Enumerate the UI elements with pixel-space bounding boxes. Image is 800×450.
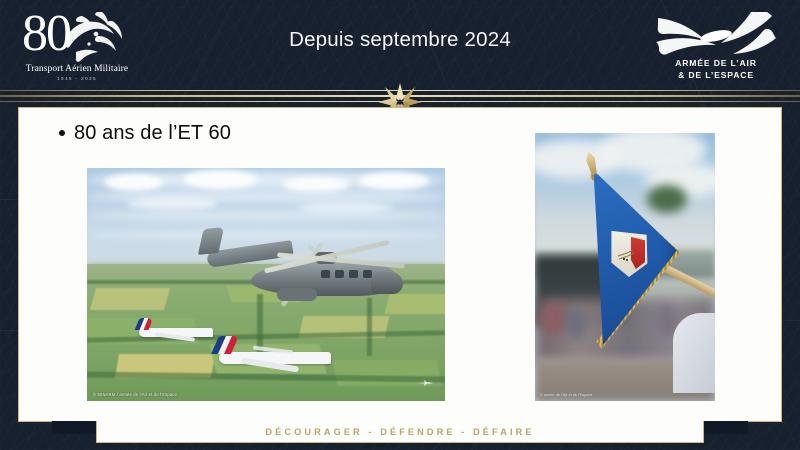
bullet-text: 80 ans de l’ET 60: [74, 120, 231, 146]
photo-cloud: [297, 202, 393, 213]
content-panel: 80 ans de l’ET 60: [18, 107, 782, 422]
motto-bar: DÉCOURAGER - DÉFENDRE - DÉFAIRE: [96, 421, 704, 443]
photo-credit: © MINARM / armée de l’Air et de l’Espace: [93, 392, 177, 397]
logo-sublabel: 1945 - 2025: [14, 76, 140, 81]
cabin-window: [349, 270, 358, 278]
sponson: [277, 288, 317, 301]
logo-line-1: ARMÉE DE L’AIR: [646, 58, 786, 68]
government-jet-rear: [131, 316, 215, 344]
photo-field: [90, 288, 170, 310]
photo-cloud: [183, 170, 257, 189]
photo-cloud: [127, 198, 217, 210]
bullet-list-item: 80 ans de l’ET 60: [59, 120, 231, 146]
motto-bar-notch: [704, 421, 748, 434]
helicopter-photo: © MINARM / armée de l’Air et de l’Espace: [87, 168, 445, 401]
bullet-dot-icon: [59, 130, 65, 136]
pennant-emblem-device-icon: [617, 247, 635, 263]
cabin-window: [335, 270, 344, 278]
photo-person: [541, 301, 567, 335]
helicopter-aircraft: [203, 216, 403, 326]
fanion-photo: © armée de l’Air et de l’Espace: [535, 133, 715, 401]
fanion-pennant: [581, 163, 693, 363]
gold-divider: [0, 86, 800, 108]
motto-bar-notch: [52, 421, 96, 434]
cockpit-window: [363, 270, 372, 278]
cabin-window: [321, 270, 330, 278]
photo-credit: © armée de l’Air et de l’Espace: [540, 393, 593, 397]
logo-line-2: & DE L’ESPACE: [646, 70, 786, 80]
slide-canvas: 80 Transport Aérien Militaire 1945 - 202…: [0, 0, 800, 450]
government-jet-front: [209, 336, 335, 374]
photo-cloud: [105, 174, 163, 191]
logo-armee-de-lair: ARMÉE DE L’AIR & DE L’ESPACE: [646, 12, 786, 88]
nose: [371, 272, 403, 294]
motto-text: DÉCOURAGER - DÉFENDRE - DÉFAIRE: [265, 427, 534, 437]
distant-aircraft-icon: [417, 379, 435, 387]
photo-cloud: [283, 177, 349, 192]
photo-cloud: [359, 172, 429, 190]
logo-label: Transport Aérien Militaire: [14, 64, 140, 74]
swallow-bird-icon: [654, 12, 778, 60]
photo-bearer-shoulder: [673, 313, 715, 393]
